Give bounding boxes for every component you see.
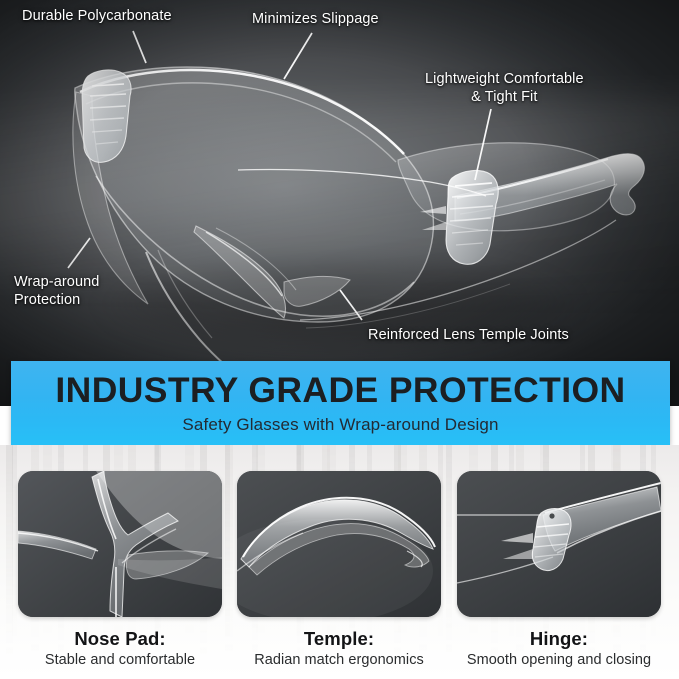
callout-minimizes-slippage: Minimizes Slippage <box>252 11 379 29</box>
nose-pad-description: Stable and comfortable <box>18 652 222 669</box>
callout-durable-polycarbonate: Durable Polycarbonate <box>22 8 172 26</box>
hinge-closeup-illustration <box>457 471 661 617</box>
left-hinge-detail <box>82 70 131 162</box>
nose-pad-closeup-illustration <box>18 471 222 617</box>
temple-caption: Temple: Radian match ergonomics <box>237 629 441 669</box>
nose-pad-title: Nose Pad: <box>18 629 222 649</box>
banner-title: INDUSTRY GRADE PROTECTION <box>55 373 625 409</box>
safety-glasses-illustration <box>0 0 679 406</box>
temple-title: Temple: <box>237 629 441 649</box>
hinge-caption: Hinge: Smooth opening and closing <box>457 629 661 669</box>
banner-subtitle: Safety Glasses with Wrap-around Design <box>182 416 498 433</box>
hinge-description: Smooth opening and closing <box>457 652 661 669</box>
callout-wrap-around-protection: Wrap-around Protection <box>14 274 99 309</box>
feature-panel-temple: Temple: Radian match ergonomics <box>237 471 441 617</box>
temple-closeup-illustration <box>237 471 441 617</box>
nose-pad-caption: Nose Pad: Stable and comfortable <box>18 629 222 669</box>
nose-pad-image <box>18 471 222 617</box>
hero-light-sheen <box>0 97 679 284</box>
feature-panel-hinge: Hinge: Smooth opening and closing <box>457 471 661 617</box>
right-hinge-detail <box>420 171 498 265</box>
callout-lightweight-comfortable: Lightweight Comfortable & Tight Fit <box>425 71 584 106</box>
product-infographic: Durable Polycarbonate Minimizes Slippage… <box>0 0 679 679</box>
hero-vignette <box>0 0 679 406</box>
hero-product-shadow <box>27 235 652 373</box>
callout-reinforced-lens-temple-joints: Reinforced Lens Temple Joints <box>368 327 569 345</box>
hero-section: Durable Polycarbonate Minimizes Slippage… <box>0 0 679 406</box>
temple-description: Radian match ergonomics <box>237 652 441 669</box>
hinge-title: Hinge: <box>457 629 661 649</box>
headline-banner: INDUSTRY GRADE PROTECTION Safety Glasses… <box>11 361 670 445</box>
feature-section: Nose Pad: Stable and comfortable <box>0 445 679 679</box>
temple-image <box>237 471 441 617</box>
hinge-image <box>457 471 661 617</box>
feature-panel-list: Nose Pad: Stable and comfortable <box>0 445 679 679</box>
feature-panel-nose-pad: Nose Pad: Stable and comfortable <box>18 471 222 617</box>
